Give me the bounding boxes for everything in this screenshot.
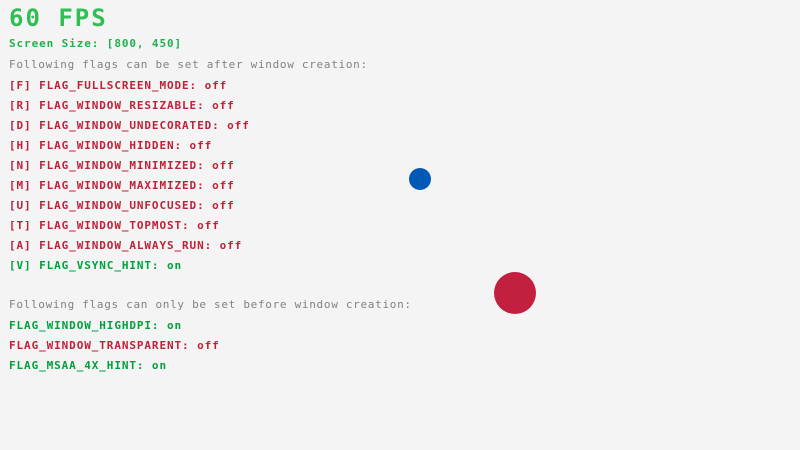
- flag-row-flag-window-topmost[interactable]: [T] FLAG_WINDOW_TOPMOST: off: [9, 220, 220, 231]
- flag-row-flag-window-hidden[interactable]: [H] FLAG_WINDOW_HIDDEN: off: [9, 140, 212, 151]
- blue-ball-shape: [409, 168, 431, 190]
- flag-row-flag-window-unfocused[interactable]: [U] FLAG_WINDOW_UNFOCUSED: off: [9, 200, 235, 211]
- flag-row-flag-window-transparent[interactable]: FLAG_WINDOW_TRANSPARENT: off: [9, 340, 220, 351]
- flag-row-flag-fullscreen-mode[interactable]: [F] FLAG_FULLSCREEN_MODE: off: [9, 80, 227, 91]
- flag-row-flag-window-highdpi[interactable]: FLAG_WINDOW_HIGHDPI: on: [9, 320, 182, 331]
- raylib-window-canvas[interactable]: 60 FPS Screen Size: [800, 450] Following…: [0, 0, 800, 450]
- flag-row-flag-window-resizable[interactable]: [R] FLAG_WINDOW_RESIZABLE: off: [9, 100, 235, 111]
- flag-row-flag-window-always-run[interactable]: [A] FLAG_WINDOW_ALWAYS_RUN: off: [9, 240, 242, 251]
- flag-row-flag-vsync-hint[interactable]: [V] FLAG_VSYNC_HINT: on: [9, 260, 182, 271]
- flag-row-flag-msaa-4x-hint[interactable]: FLAG_MSAA_4X_HINT: on: [9, 360, 167, 371]
- screen-size-label: Screen Size: [800, 450]: [9, 38, 182, 49]
- section-heading-before-creation: Following flags can only be set before w…: [9, 299, 412, 310]
- red-ball-shape: [494, 272, 536, 314]
- flag-row-flag-window-maximized[interactable]: [M] FLAG_WINDOW_MAXIMIZED: off: [9, 180, 235, 191]
- section-heading-after-creation: Following flags can be set after window …: [9, 59, 368, 70]
- flag-row-flag-window-undecorated[interactable]: [D] FLAG_WINDOW_UNDECORATED: off: [9, 120, 250, 131]
- fps-counter: 60 FPS: [9, 6, 108, 30]
- flag-row-flag-window-minimized[interactable]: [N] FLAG_WINDOW_MINIMIZED: off: [9, 160, 235, 171]
